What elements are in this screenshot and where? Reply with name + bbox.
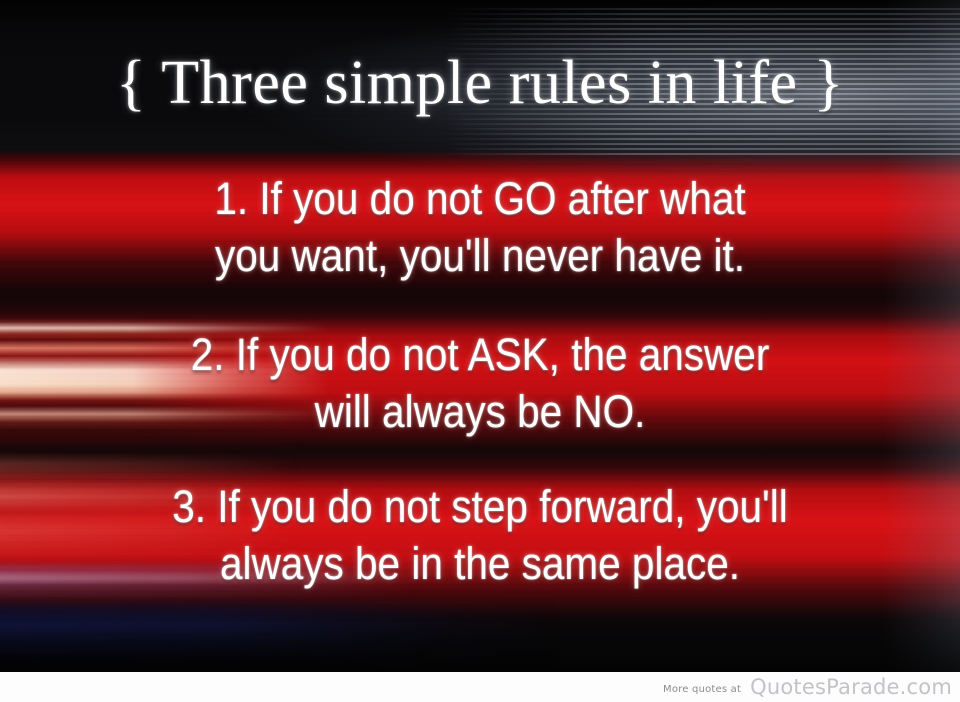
rule-item-1: 1. If you do not GO after what you want,… — [48, 170, 912, 284]
poster-title: { Three simple rules in life } — [0, 52, 960, 114]
rule-2-line-1: 2. If you do not ASK, the answer — [48, 326, 912, 383]
watermark-prefix: More quotes at — [663, 684, 741, 695]
rule-3-line-1: 3. If you do not step forward, you'll — [48, 478, 912, 535]
rule-item-2: 2. If you do not ASK, the answer will al… — [48, 326, 912, 440]
rule-item-3: 3. If you do not step forward, you'll al… — [48, 478, 912, 592]
rule-2-line-2: will always be NO. — [48, 383, 912, 440]
quote-poster: { Three simple rules in life } 1. If you… — [0, 0, 960, 702]
watermark-brand[interactable]: QuotesParade.com — [750, 675, 952, 699]
rule-3-line-2: always be in the same place. — [48, 535, 912, 592]
poster-content: { Three simple rules in life } 1. If you… — [0, 0, 960, 672]
rule-1-line-2: you want, you'll never have it. — [48, 227, 912, 284]
rule-1-line-1: 1. If you do not GO after what — [48, 170, 912, 227]
watermark-footer: More quotes at QuotesParade.com — [0, 672, 960, 702]
